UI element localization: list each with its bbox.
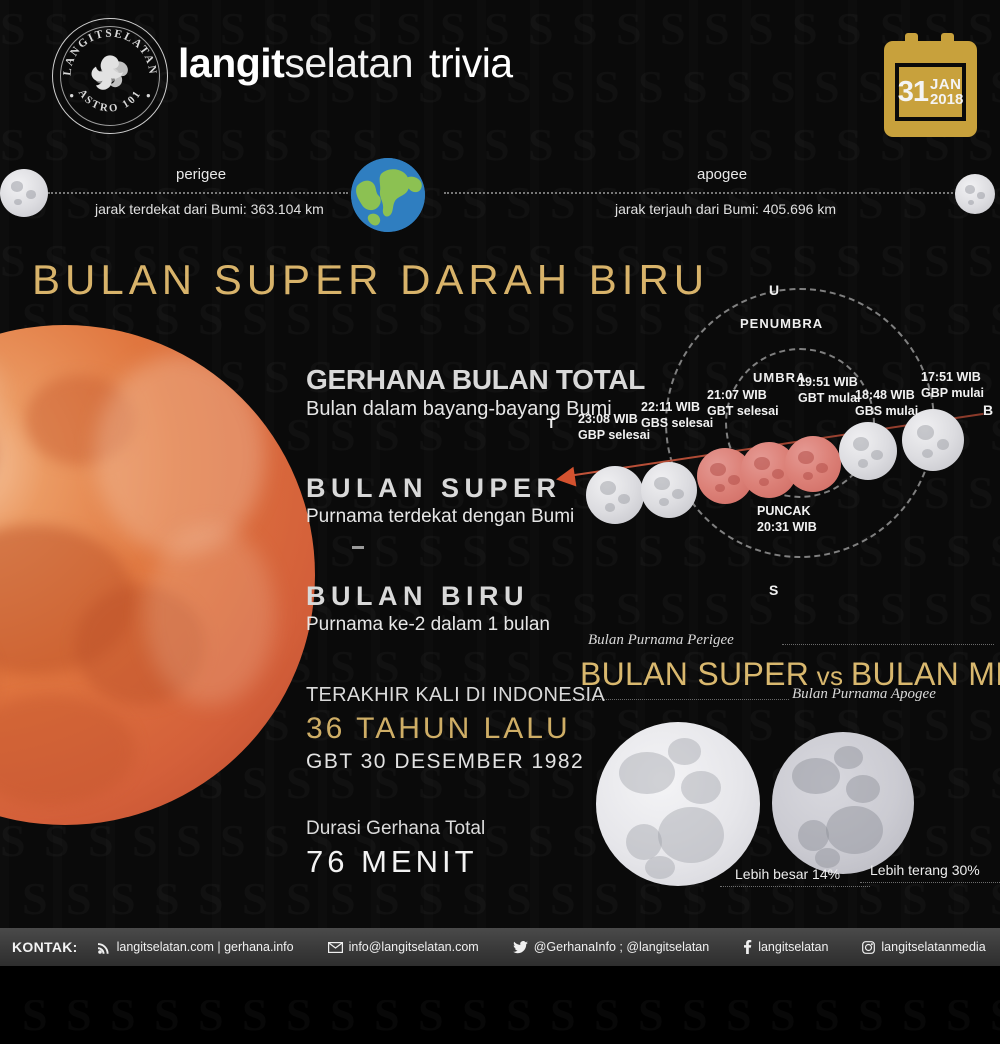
svm-subtitle-bottom: Bulan Purnama Apogee	[792, 686, 936, 703]
perigee-apogee-band	[0, 150, 1000, 246]
svm-dotted-line-top	[782, 644, 994, 645]
svg-text:ASTRO 101: ASTRO 101	[76, 87, 144, 115]
envelope-icon	[328, 942, 343, 953]
phase-label-4: 19:51 WIB GBT mulai	[798, 375, 861, 406]
footer-bottom-area	[0, 966, 1000, 1000]
calendar-body: 31 JAN 2018	[884, 41, 977, 137]
footer-website-text: langitselatan.com | gerhana.info	[117, 940, 294, 954]
apogee-distance-text: jarak terjauh dari Bumi: 405.696 km	[615, 201, 836, 217]
phase-2-time: 22:11 WIB	[641, 400, 700, 414]
langitselatan-logo-icon: LANGITSELATAN ASTRO 101	[52, 18, 168, 134]
footer-item-website[interactable]: langitselatan.com | gerhana.info	[98, 940, 294, 954]
phase-5-event: GBS mulai	[855, 404, 918, 418]
twitter-icon	[513, 941, 528, 954]
rss-icon	[98, 941, 111, 954]
caption-brighter: Lebih terang 30%	[870, 862, 980, 878]
divider-dash	[352, 546, 364, 549]
footer-item-email[interactable]: info@langitselatan.com	[328, 940, 479, 954]
feature-2-subtitle: Purnama terdekat dengan Bumi	[306, 506, 574, 528]
phase-label-3: 21:07 WIB GBT selesai	[707, 388, 779, 419]
facebook-icon	[743, 940, 752, 954]
svm-dotted-line-bottom	[563, 699, 789, 700]
moon-icon-perigee	[0, 169, 48, 217]
feature-3-subtitle: Purnama ke-2 dalam 1 bulan	[306, 614, 550, 636]
calendar-day: 31	[898, 78, 928, 107]
footer-instagram-text: langitselatanmedia	[881, 940, 985, 954]
axis-label-b: B	[983, 402, 993, 418]
feature-3-title: BULAN BIRU	[306, 582, 550, 611]
phase-moon-2	[641, 462, 697, 518]
phase-label-1: 23:08 WIB GBP selesai	[578, 412, 650, 443]
footer-email-text: info@langitselatan.com	[349, 940, 479, 954]
calendar-screen: 31 JAN 2018	[895, 63, 966, 121]
direction-arrow-icon	[555, 467, 577, 490]
peak-title: PUNCAK	[757, 504, 810, 518]
mini-moon-illustration	[772, 732, 914, 874]
calendar-month-year: JAN 2018	[930, 77, 963, 108]
peak-time: 20:31 WIB	[757, 520, 817, 534]
instagram-icon	[862, 941, 875, 954]
phase-4-event: GBT mulai	[798, 391, 861, 405]
footer-twitter-text: @GerhanaInfo ; @langitselatan	[534, 940, 709, 954]
moon-icon-apogee	[955, 174, 995, 214]
brand-title: langitselatantrivia	[178, 40, 513, 87]
phase-label-5: 18:48 WIB GBS mulai	[855, 388, 918, 419]
brand-part-2: selatan	[284, 40, 413, 86]
earth-globe-icon	[351, 158, 425, 232]
perigee-label: perigee	[176, 166, 226, 183]
footer-item-facebook[interactable]: langitselatan	[743, 940, 828, 954]
calendar-year: 2018	[930, 92, 963, 107]
calendar-date-area: 31 JAN 2018	[899, 67, 962, 117]
perigee-distance-text: jarak terdekat dari Bumi: 363.104 km	[95, 201, 324, 217]
caption-bigger: Lebih besar 14%	[735, 866, 840, 882]
caption-dotted-line-1	[720, 886, 870, 887]
footer-facebook-text: langitselatan	[758, 940, 828, 954]
phase-4-time: 19:51 WIB	[798, 375, 858, 389]
phase-1-time: 23:08 WIB	[578, 412, 638, 426]
duration-value: 76 MENIT	[306, 844, 485, 880]
calendar-month: JAN	[930, 77, 963, 92]
feature-block-bulan-biru: BULAN BIRU Purnama ke-2 dalam 1 bulan	[306, 582, 550, 636]
duration-label: Durasi Gerhana Total	[306, 818, 485, 840]
phase-3-time: 21:07 WIB	[707, 388, 767, 402]
band-dotted-line-left	[48, 192, 348, 194]
svm-subtitle-top: Bulan Purnama Perigee	[588, 632, 734, 649]
apogee-label: apogee	[697, 166, 747, 183]
duration-block: Durasi Gerhana Total 76 MENIT	[306, 818, 485, 880]
eclipse-path-diagram: PENUMBRA UMBRA U S T B 23:08 WIB GBP sel…	[540, 270, 1000, 620]
footer-item-instagram[interactable]: langitselatanmedia	[862, 940, 985, 954]
super-moon-illustration	[596, 722, 760, 886]
brand-part-1: langit	[178, 40, 284, 86]
footer-item-twitter[interactable]: @GerhanaInfo ; @langitselatan	[513, 940, 709, 954]
phase-1-event: GBP selesai	[578, 428, 650, 442]
footer-contact-bar: KONTAK: langitselatan.com | gerhana.info…	[0, 928, 1000, 966]
kontak-label: KONTAK:	[0, 939, 98, 955]
calendar-icon: 31 JAN 2018	[884, 33, 977, 137]
phase-label-6: 17:51 WIB GBP mulai	[921, 370, 984, 401]
penumbra-label: PENUMBRA	[740, 316, 823, 331]
phase-5-time: 18:48 WIB	[855, 388, 915, 402]
svm-title-left: BULAN SUPER	[580, 656, 809, 692]
axis-label-t: T	[547, 415, 556, 431]
feature-2-title: BULAN SUPER	[306, 474, 574, 503]
phase-moon-6	[839, 422, 897, 480]
header: LANGITSELATAN ASTRO 101 langitselatantri…	[0, 0, 1000, 150]
phase-2-event: GBS selesai	[641, 416, 713, 430]
axis-label-u: U	[769, 282, 779, 298]
axis-label-s: S	[769, 582, 778, 598]
phase-moon-1	[586, 466, 644, 524]
feature-block-bulan-super: BULAN SUPER Purnama terdekat dengan Bumi	[306, 474, 574, 528]
logo-emblem-icon: LANGITSELATAN ASTRO 101	[53, 19, 167, 133]
super-vs-mini-section: Bulan Purnama Perigee BULAN SUPER vs BUL…	[560, 630, 1000, 900]
phase-moon-5	[785, 436, 841, 492]
caption-dotted-line-2	[860, 882, 1000, 883]
phase-6-event: GBP mulai	[921, 386, 984, 400]
phase-6-time: 17:51 WIB	[921, 370, 981, 384]
band-dotted-line-right	[444, 192, 989, 194]
brand-part-3: trivia	[429, 40, 513, 86]
svm-title: BULAN SUPER vs BULAN MINI	[580, 656, 1000, 693]
peak-label: PUNCAK 20:31 WIB	[757, 504, 817, 535]
phase-3-event: GBT selesai	[707, 404, 779, 418]
phase-label-2: 22:11 WIB GBS selesai	[641, 400, 713, 431]
